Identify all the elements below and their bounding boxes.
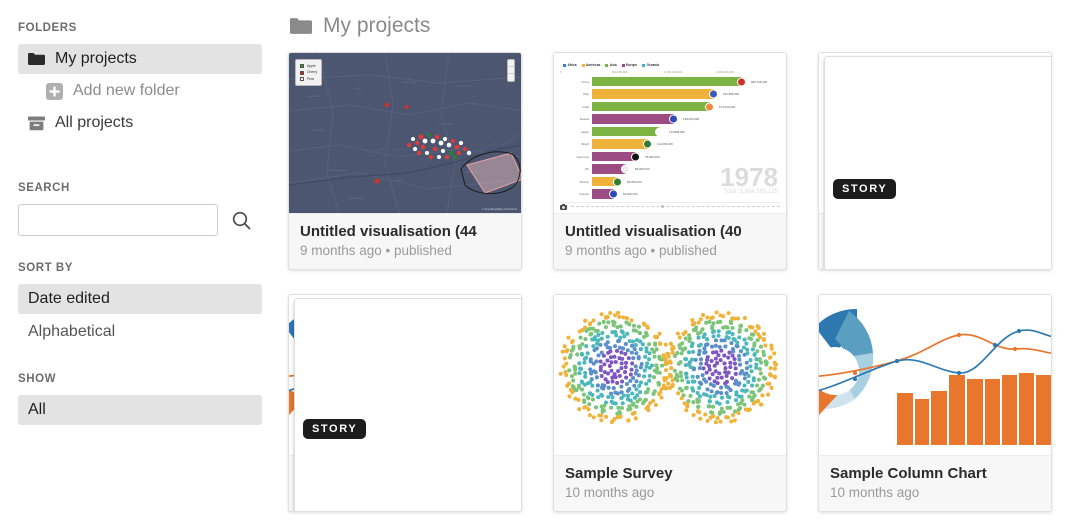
sidebar: FOLDERS My projects Add new folder All p… — [0, 0, 280, 529]
dot-cluster — [559, 311, 673, 424]
total-value: Total: 1,684,585,125 — [720, 190, 778, 195]
story-badge: STORY — [303, 419, 366, 439]
thumbnail-survey — [554, 295, 786, 455]
card-subtitle: 10 months ago — [300, 485, 510, 500]
folders-group: FOLDERS My projects Add new folder All p… — [18, 22, 262, 138]
bar-value: 15,776 — [924, 171, 947, 180]
bar-label: France — [560, 192, 592, 196]
sort-section-label: SORT BY — [18, 262, 262, 274]
project-card-wrap: Sample Survey 10 months ago — [553, 294, 787, 512]
bar-value: 65,000,000 — [627, 180, 641, 184]
show-group: SHOW All — [18, 373, 262, 425]
search-icon — [232, 211, 251, 230]
project-card-wrap: Africa Americas Asia Europe Oceania 0 50… — [553, 52, 787, 270]
axis-tick: 500,000,000 — [612, 70, 628, 74]
line-orange — [289, 334, 521, 377]
sidebar-item-add-new-folder[interactable]: Add new folder — [18, 76, 262, 106]
composite-chart — [819, 295, 1051, 455]
search-section-label: SEARCH — [18, 182, 262, 194]
sidebar-item-label: Add new folder — [73, 82, 180, 100]
card-subtitle: 9 months ago • published — [565, 243, 775, 258]
map-point-clusters — [289, 53, 521, 213]
bar — [592, 189, 614, 199]
project-card-wrap: Tokyo 33,457 Kinki M.M.A. (Osaka) 18,869 — [818, 52, 1052, 270]
bar-race-year: 1978 Total: 1,684,585,125 — [720, 166, 778, 195]
sidebar-item-label: My projects — [55, 50, 137, 68]
bar-race-row: India 671,000,000 — [560, 101, 780, 112]
bars-orange — [897, 373, 1051, 445]
composite-chart: STORY — [289, 295, 521, 455]
bar-value: 78,000,000 — [645, 155, 659, 159]
composite-svg — [819, 295, 1051, 455]
bar-group: New York-Newark Ciudad de México (Mexico… — [827, 126, 919, 156]
line-orange-points — [323, 333, 487, 375]
card-title: Sample Column Chart — [830, 465, 1040, 482]
bar-value: 138,000,000 — [683, 117, 699, 121]
donut-chart — [289, 309, 343, 415]
bar-race-row: Russia 138,000,000 — [560, 114, 780, 125]
legend-item: Europe — [622, 63, 637, 67]
sort-option-label: Alphabetical — [28, 323, 115, 341]
legend-label: Oceania — [647, 63, 659, 67]
card-title: Untitled visualisation (44 — [300, 223, 510, 240]
bar-value: 222,585,000 — [723, 92, 739, 96]
bar-value: 33,457 — [1014, 70, 1037, 79]
bar-label: Tokyo — [982, 70, 1004, 79]
archive-box-icon — [28, 116, 45, 131]
card-meta: Untitled story (655047) 9 months ago — [819, 213, 1051, 269]
legend-item: Oceania — [642, 63, 659, 67]
projects-page: FOLDERS My projects Add new folder All p… — [0, 0, 1080, 529]
show-section-label: SHOW — [18, 373, 262, 385]
card-subtitle: 9 months ago • published — [300, 243, 510, 258]
thumbnail-composite — [819, 295, 1051, 455]
sort-group: SORT BY Date edited Alphabetical — [18, 262, 262, 347]
city-race-chart: Tokyo 33,457 Kinki M.M.A. (Osaka) 18,869 — [819, 53, 1051, 213]
legend-label: Americas — [586, 63, 600, 67]
card-meta: Untitled visualisation (40 9 months ago … — [554, 213, 786, 269]
bar: Ciudad de México (Mexico City) — [827, 139, 919, 156]
city-race-year: 1995 — [976, 180, 1043, 206]
map-attribution: © OpenStreetMap contributors — [480, 208, 519, 211]
projects-grid: AylesburyLuton StevenageChelmsford Readi… — [288, 52, 1068, 512]
bar-race-row: USA 222,585,000 — [560, 89, 780, 100]
bar — [592, 77, 742, 87]
plus-square-icon — [46, 83, 63, 100]
bar-race-timeline[interactable] — [560, 202, 780, 210]
card-title: Sample Survey — [565, 465, 775, 482]
thumbnail-map: AylesburyLuton StevenageChelmsford Readi… — [289, 53, 521, 213]
bar-values: 16,829 16,833 — [924, 132, 947, 151]
folder-icon — [28, 52, 45, 66]
line-blue-points — [323, 329, 491, 381]
card-title: Untitled visualisation (40 — [565, 223, 775, 240]
bar — [592, 102, 710, 112]
project-card-sample-survey[interactable]: Sample Survey 10 months ago — [553, 294, 787, 512]
search-group: SEARCH — [18, 182, 262, 236]
card-meta: Sample Story 10 months ago — [289, 455, 521, 511]
folder-icon — [290, 17, 312, 35]
bar-label: Ciudad de México (Mexico City) — [819, 143, 914, 152]
bar-value: 16,829 — [924, 132, 947, 141]
bar-label: USA — [560, 92, 592, 96]
legend-label: Pear — [307, 76, 314, 82]
bar-race-row: Brazil 114,000,000 — [560, 139, 780, 150]
show-option-all[interactable]: All — [18, 395, 262, 425]
bar-label: Kinki M.M.A. (Osaka) — [852, 102, 926, 111]
search-input[interactable] — [18, 204, 218, 236]
line-blue — [289, 330, 521, 393]
main-content: My projects — [280, 0, 1080, 529]
project-card-bar-race[interactable]: Africa Americas Asia Europe Oceania 0 50… — [553, 52, 787, 270]
bar — [592, 139, 648, 149]
bar-value: 53,000,000 — [623, 192, 637, 196]
legend-item: Pear — [300, 76, 317, 82]
card-title: Sample Story — [300, 465, 510, 482]
page-title-text: My projects — [323, 14, 430, 38]
show-option-label: All — [28, 401, 46, 419]
bar-value: 956,165,000 — [751, 80, 767, 84]
sidebar-item-all-projects[interactable]: All projects — [18, 108, 262, 138]
bar — [592, 164, 626, 174]
project-card-wrap: Sample Column Chart 10 months ago — [818, 294, 1052, 512]
bar-race-row: China 956,165,000 — [560, 76, 780, 87]
legend-item: Africa — [563, 63, 577, 67]
sort-option-alphabetical[interactable]: Alphabetical — [18, 317, 262, 347]
city-race-row: Kinki M.M.A. (Osaka) 18,869 — [827, 94, 1043, 119]
legend-item: Asia — [605, 63, 616, 67]
map-zoom-controls[interactable] — [507, 59, 515, 82]
map-legend: Apple Cherry Pear — [295, 59, 322, 86]
legend-label: Africa — [568, 63, 577, 67]
bar-race-row: Japan 114,898,000 — [560, 126, 780, 137]
thumbnail-composite: STORY — [289, 295, 521, 455]
sort-option-label: Date edited — [28, 290, 110, 308]
bar — [592, 127, 660, 137]
bar-value: 16,833 — [924, 141, 947, 150]
project-card-map[interactable]: AylesburyLuton StevenageChelmsford Readi… — [288, 52, 522, 270]
bar — [592, 114, 674, 124]
map-polygon-overlay — [461, 152, 521, 194]
map-basemap: AylesburyLuton StevenageChelmsford Readi… — [289, 53, 521, 213]
card-meta: Untitled visualisation (44 9 months ago … — [289, 213, 521, 269]
legend-label: Asia — [610, 63, 617, 67]
bar: New York-Newark — [827, 126, 919, 141]
year-value: 1978 — [720, 166, 778, 189]
line-blue-points — [853, 329, 1021, 381]
card-subtitle: 9 months ago — [830, 243, 1040, 258]
bar-label: China — [560, 80, 592, 84]
bar — [592, 89, 714, 99]
story-badge: STORY — [833, 179, 896, 199]
axis-tick: 0 — [560, 70, 562, 74]
timeline-knob — [661, 205, 664, 208]
project-card-wrap: STORY Sample Story 10 months ago — [288, 294, 522, 512]
page-title: My projects — [288, 14, 1068, 38]
donut-chart — [819, 309, 873, 415]
sort-option-date-edited[interactable]: Date edited — [18, 284, 262, 314]
bar-value: 18,869 — [936, 102, 959, 111]
bar-value: 56,200,000 — [635, 167, 649, 171]
search-button[interactable] — [230, 209, 253, 232]
bar-label: Mexico — [560, 180, 592, 184]
bar-label: Brazil — [560, 142, 592, 146]
bar-value: 671,000,000 — [719, 105, 735, 109]
bars-orange — [367, 373, 521, 445]
folders-section-label: FOLDERS — [18, 22, 262, 34]
city-race-row: New York-Newark Ciudad de México (Mexico… — [827, 126, 1043, 156]
bar-race-legend: Africa Americas Asia Europe Oceania — [560, 63, 780, 67]
bar-race-chart: Africa Americas Asia Europe Oceania 0 50… — [554, 53, 786, 213]
bar-value: 114,000,000 — [657, 142, 673, 146]
bar-label: India — [560, 105, 592, 109]
bar-value: 114,898,000 — [669, 130, 685, 134]
bar-race-row: Germany 78,000,000 — [560, 151, 780, 162]
sidebar-item-label: All projects — [55, 114, 133, 132]
project-card-sample-column-chart[interactable]: Sample Column Chart 10 months ago — [818, 294, 1052, 512]
project-card-wrap: AylesburyLuton StevenageChelmsford Readi… — [288, 52, 522, 270]
bar-label: Russia — [560, 117, 592, 121]
city-race-row: Tokyo 33,457 — [827, 62, 1043, 87]
thumbnail-bar-race: Africa Americas Asia Europe Oceania 0 50… — [554, 53, 786, 213]
timeline-track[interactable] — [571, 206, 780, 207]
sidebar-item-my-projects[interactable]: My projects — [18, 44, 262, 74]
card-subtitle: 10 months ago — [565, 485, 775, 500]
bar-label: Germany — [560, 155, 592, 159]
card-title: Untitled story (655047) — [830, 223, 1040, 240]
dot-cluster — [664, 310, 778, 424]
card-subtitle: 10 months ago — [830, 485, 1040, 500]
bar — [592, 152, 636, 162]
bar-label: UK — [560, 167, 592, 171]
project-card-city-story[interactable]: Tokyo 33,457 Kinki M.M.A. (Osaka) 18,869 — [818, 52, 1052, 270]
survey-svg — [554, 295, 786, 455]
thumbnail-city-race: Tokyo 33,457 Kinki M.M.A. (Osaka) 18,869 — [819, 53, 1051, 213]
search-row — [18, 204, 262, 236]
card-meta: Sample Survey 10 months ago — [554, 455, 786, 511]
card-meta: Sample Column Chart 10 months ago — [819, 455, 1051, 511]
legend-item: Americas — [582, 63, 601, 67]
axis-tick: 1,000,000,000 — [664, 70, 682, 74]
bar-label: New York-Newark — [851, 128, 914, 137]
bar — [592, 177, 618, 187]
bar: Tokyo — [827, 62, 1009, 87]
axis-tick: 1,500,000,000 — [716, 70, 734, 74]
legend-label: Europe — [626, 63, 637, 67]
project-card-sample-story[interactable]: STORY Sample Story 10 months ago — [288, 294, 522, 512]
camera-icon[interactable] — [560, 204, 567, 210]
bar: Kinki M.M.A. (Osaka) — [827, 94, 931, 119]
bar-label: Japan — [560, 130, 592, 134]
survey-chart — [554, 295, 786, 455]
